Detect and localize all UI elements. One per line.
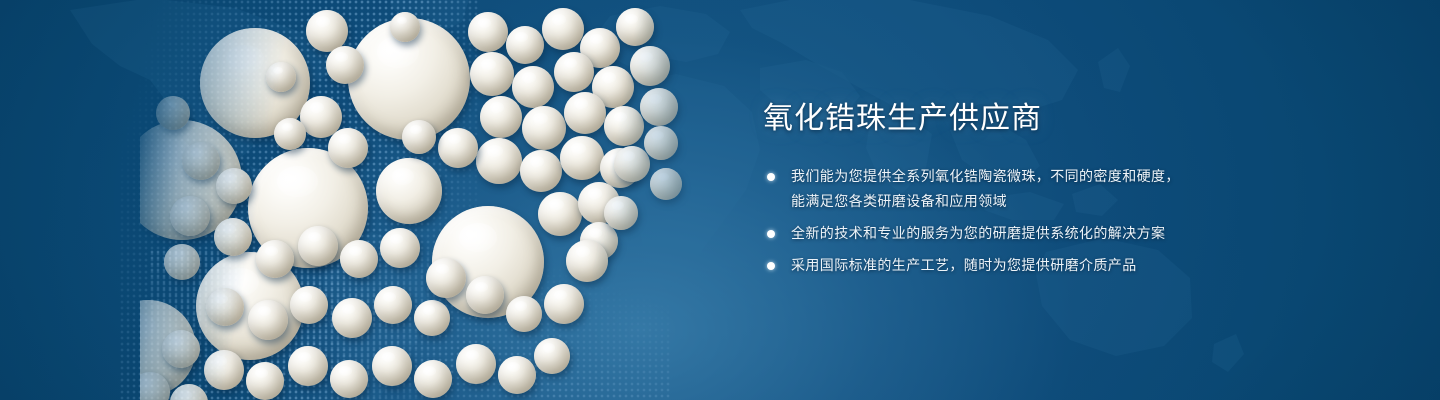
feature-list: 我们能为您提供全系列氧化锆陶瓷微珠，不同的密度和硬度， 能满足您各类研磨设备和应… bbox=[763, 164, 1283, 278]
list-item-line-2: 能满足您各类研磨设备和应用领域 bbox=[791, 189, 1283, 214]
bullet-dot-icon bbox=[767, 262, 775, 270]
page-title: 氧化锆珠生产供应商 bbox=[763, 100, 1283, 138]
list-item: 我们能为您提供全系列氧化锆陶瓷微珠，不同的密度和硬度， 能满足您各类研磨设备和应… bbox=[763, 164, 1283, 214]
list-item: 全新的技术和专业的服务为您的研磨提供系统化的解决方案 bbox=[763, 221, 1283, 246]
list-item-line-1: 全新的技术和专业的服务为您的研磨提供系统化的解决方案 bbox=[791, 221, 1283, 246]
list-item-line-1: 采用国际标准的生产工艺，随时为您提供研磨介质产品 bbox=[791, 253, 1283, 278]
bullet-dot-icon bbox=[767, 230, 775, 238]
hero-banner: 氧化锆珠生产供应商 我们能为您提供全系列氧化锆陶瓷微珠，不同的密度和硬度， 能满… bbox=[0, 0, 1440, 400]
zirconia-beads-photo bbox=[140, 0, 710, 400]
banner-copy: 氧化锆珠生产供应商 我们能为您提供全系列氧化锆陶瓷微珠，不同的密度和硬度， 能满… bbox=[763, 100, 1283, 285]
bullet-dot-icon bbox=[767, 173, 775, 181]
list-item-line-1: 我们能为您提供全系列氧化锆陶瓷微珠，不同的密度和硬度， bbox=[791, 164, 1283, 189]
list-item: 采用国际标准的生产工艺，随时为您提供研磨介质产品 bbox=[763, 253, 1283, 278]
